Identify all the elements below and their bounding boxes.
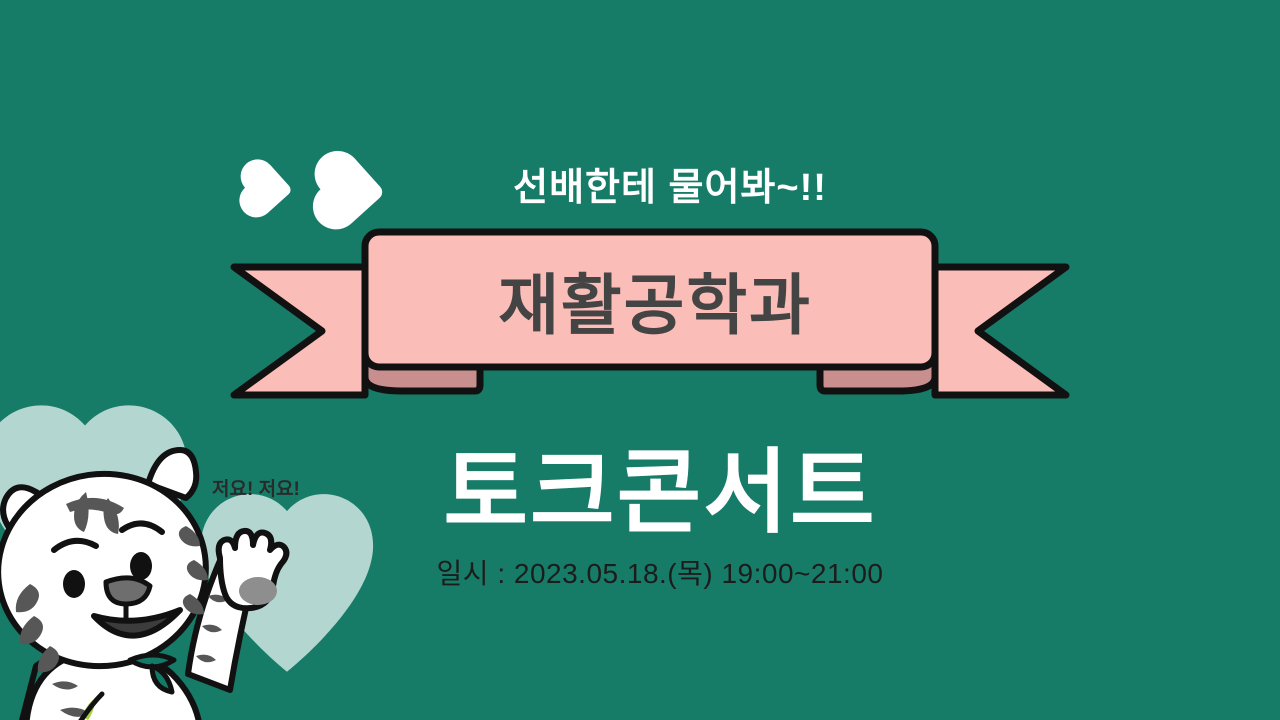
- tiger-paw-pad: [239, 577, 277, 605]
- mascot-speech-text: 저요! 저요!: [212, 474, 300, 501]
- tiger-mascot: [0, 398, 390, 720]
- tiger-eye-right: [130, 552, 152, 580]
- tiger-eye-left: [63, 570, 85, 598]
- ribbon-label-text: 재활공학과: [365, 232, 945, 367]
- ribbon-right-tail: [935, 267, 1066, 395]
- poster-canvas: 선배한테 물어봐~!! 재활공학과 토크콘서트 일시 : 2023.05.18.…: [0, 0, 1280, 720]
- tiger-nose: [106, 578, 150, 604]
- tagline-text: 선배한테 물어봐~!!: [0, 156, 1280, 211]
- ribbon-left-tail: [234, 267, 365, 395]
